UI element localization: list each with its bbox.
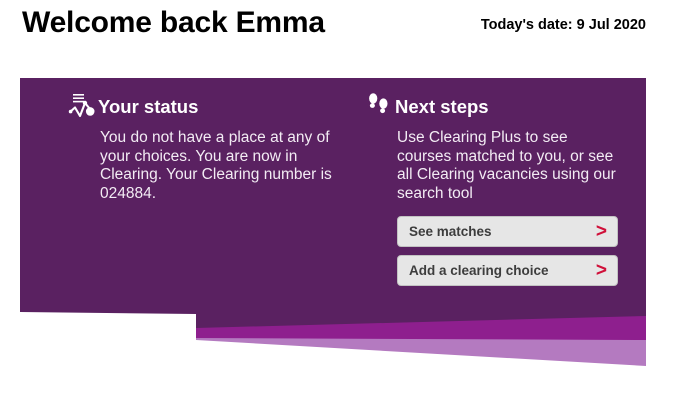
status-heading: Your status <box>68 92 338 122</box>
status-card: Your status You do not have a place at a… <box>20 78 646 388</box>
next-steps-title: Next steps <box>395 96 489 118</box>
line-chart-icon <box>68 92 98 122</box>
next-steps-heading: Next steps <box>365 92 635 122</box>
chevron-right-icon: > <box>596 220 607 244</box>
status-body-text: You do not have a place at any of your c… <box>100 129 332 203</box>
next-steps-body-text: Use Clearing Plus to see courses matched… <box>397 129 619 203</box>
page-title: Welcome back Emma <box>22 6 325 40</box>
chevron-right-icon: > <box>596 259 607 283</box>
card-content: Your status You do not have a place at a… <box>20 78 646 318</box>
todays-date-label: Today's date: 9 Jul 2020 <box>481 17 646 33</box>
see-matches-button[interactable]: See matches > <box>397 216 618 247</box>
add-clearing-choice-button-label: Add a clearing choice <box>409 263 549 278</box>
add-clearing-choice-button[interactable]: Add a clearing choice > <box>397 255 618 286</box>
status-title: Your status <box>98 96 198 118</box>
next-steps-button-group: See matches > Add a clearing choice > <box>397 216 618 286</box>
next-steps-column: Next steps Use Clearing Plus to see cour… <box>365 78 635 294</box>
status-column: Your status You do not have a place at a… <box>68 78 338 203</box>
see-matches-button-label: See matches <box>409 224 492 239</box>
page-header: Welcome back Emma Today's date: 9 Jul 20… <box>0 0 676 64</box>
footsteps-icon <box>367 92 395 122</box>
